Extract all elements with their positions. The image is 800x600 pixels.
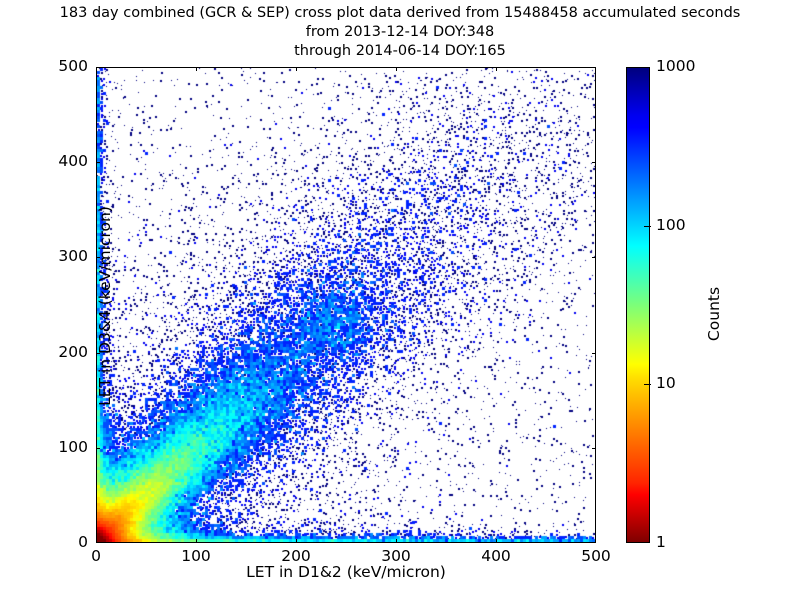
title-line-2: from 2013-12-14 DOY:348 [0, 23, 800, 42]
colorbar-tick-mark [644, 226, 651, 227]
plot-area [96, 67, 596, 543]
x-tick-mark [196, 539, 197, 543]
y-tick-label: 300 [28, 247, 88, 265]
y-axis-label: LET in D3&4 (keV/micron) [96, 68, 114, 544]
colorbar-tick-label: 10 [656, 374, 676, 392]
y-tick-mark [592, 448, 596, 449]
chart-title: 183 day combined (GCR & SEP) cross plot … [0, 4, 800, 61]
colorbar-tick-mark [644, 384, 651, 385]
title-line-1: 183 day combined (GCR & SEP) cross plot … [0, 4, 800, 23]
colorbar-gradient [627, 68, 649, 542]
colorbar [626, 67, 650, 543]
x-tick-mark [296, 539, 297, 543]
y-tick-mark [592, 162, 596, 163]
y-tick-label: 100 [28, 438, 88, 456]
figure: 183 day combined (GCR & SEP) cross plot … [0, 0, 800, 600]
x-tick-mark [396, 539, 397, 543]
y-tick-label: 0 [28, 533, 88, 551]
x-axis-label: LET in D1&2 (keV/micron) [96, 563, 596, 581]
y-tick-mark [592, 353, 596, 354]
x-tick-mark [496, 539, 497, 543]
colorbar-tick-label: 100 [656, 216, 686, 234]
colorbar-label: Counts [705, 214, 723, 414]
x-tick-mark [296, 67, 297, 71]
y-tick-label: 200 [28, 343, 88, 361]
scatter-density-plot [97, 68, 595, 542]
y-tick-label: 400 [28, 152, 88, 170]
x-tick-mark [396, 67, 397, 71]
x-tick-mark [496, 67, 497, 71]
colorbar-tick-label: 1000 [656, 57, 695, 75]
y-tick-mark [592, 257, 596, 258]
y-tick-label: 500 [28, 57, 88, 75]
colorbar-tick-label: 1 [656, 533, 666, 551]
x-tick-mark [196, 67, 197, 71]
